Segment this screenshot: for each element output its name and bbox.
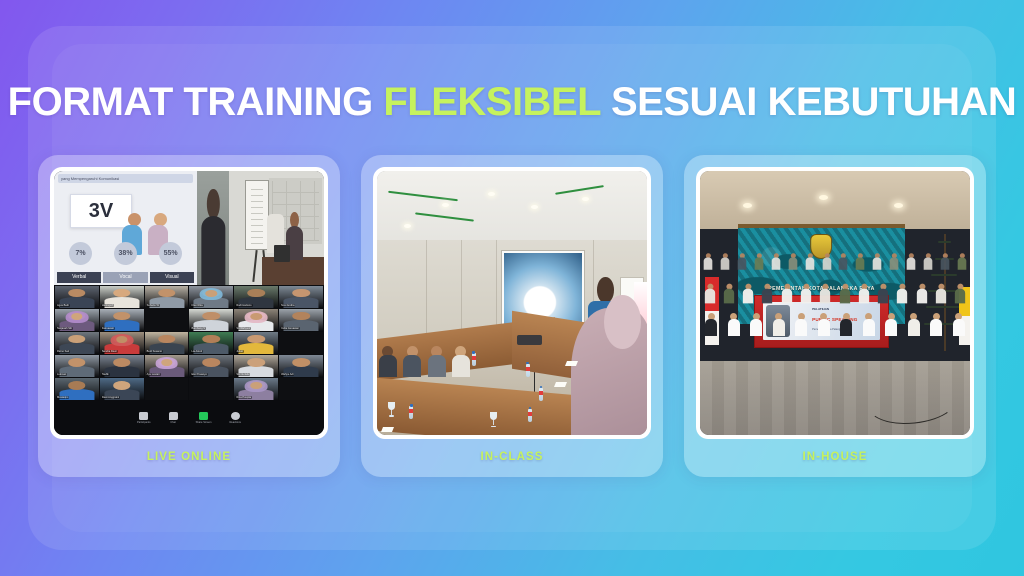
- zoom-participant-tile[interactable]: Eko Prasetyo: [189, 355, 233, 377]
- format-card-in-class[interactable]: IN-CLASS: [361, 155, 663, 477]
- participant-name: Budi Susanto: [146, 350, 163, 353]
- chat-icon: [169, 412, 178, 420]
- crowd-person: [805, 253, 814, 270]
- zoom-participant-tile[interactable]: Heningsih: [100, 286, 144, 308]
- card-label-in-class: IN-CLASS: [480, 451, 543, 463]
- crowd-person: [923, 253, 932, 270]
- participant-name: Taufik: [101, 373, 110, 376]
- stat-verbal: 7%: [69, 242, 92, 265]
- zoom-meeting-ui: yang Mempengaruhi Komunikasi 3V: [54, 171, 324, 435]
- crowd-person: [704, 253, 713, 270]
- bar-label-visual: Visual: [150, 272, 194, 283]
- crowd-person: [940, 253, 949, 270]
- crowd-person: [863, 313, 875, 336]
- crowd-person: [820, 283, 830, 303]
- participants-icon: [139, 412, 148, 420]
- crowd-person: [873, 253, 882, 270]
- shared-slide-stats: 7% 38% 55%: [54, 242, 197, 265]
- zoom-toolbar-share-screen[interactable]: Share Screen: [196, 412, 212, 424]
- projector-device: [517, 335, 541, 346]
- photo-frame-live-online: yang Mempengaruhi Komunikasi 3V: [50, 167, 328, 439]
- zoom-participant-tile[interactable]: Mustaqim: [55, 378, 99, 400]
- crowd-person: [908, 313, 920, 336]
- stat-vocal: 38%: [114, 242, 137, 265]
- crowd-person: [721, 253, 730, 270]
- bar-label-vocal: Vocal: [103, 272, 147, 283]
- zoom-participant-tile[interactable]: Bambang S: [189, 309, 233, 331]
- zoom-participant-tile[interactable]: Fatmawati: [100, 309, 144, 331]
- crowd-person: [936, 283, 946, 303]
- crowd-person: [772, 253, 781, 270]
- participant-name: Ayu Lestari: [146, 373, 161, 376]
- group-photo-crowd: [700, 250, 970, 371]
- shared-slide-bar-labels: Verbal Vocal Visual: [57, 272, 194, 283]
- shared-slide-header: yang Mempengaruhi Komunikasi: [58, 174, 193, 183]
- zoom-participant-tile[interactable]: Sandra Dewi: [100, 332, 144, 354]
- participant-name: Fatmawati: [101, 327, 115, 330]
- participant-name: Lukman: [56, 373, 67, 376]
- participant-name: Sandra Dewi: [101, 350, 118, 353]
- participant-name: Wahyu Adi: [280, 373, 294, 376]
- title-highlight-fleksibel: FLEKSIBEL: [383, 80, 600, 124]
- crowd-person: [743, 283, 753, 303]
- zoom-participant-tile[interactable]: Siti Nurlaila: [234, 355, 278, 377]
- zoom-participant-tile[interactable]: Novi Andira: [279, 286, 323, 308]
- zoom-participant-tile[interactable]: Rudi Hartono: [234, 286, 278, 308]
- participant-name: Agus Budi: [56, 304, 70, 307]
- crowd-person: [724, 283, 734, 303]
- crowd-person: [955, 283, 965, 303]
- crowd-person: [917, 283, 927, 303]
- crowd-row: [700, 282, 970, 305]
- share-screen-icon: [199, 412, 208, 420]
- photo-frame-in-house: PEMERINTAH KOTA PALANGKA RAYA PELATIHAN …: [696, 167, 974, 439]
- crowd-person: [822, 253, 831, 270]
- crowd-person: [953, 313, 965, 336]
- zoom-participant-tile[interactable]: Rina Puspita: [234, 378, 278, 400]
- crowd-person: [890, 253, 899, 270]
- crowd-person: [788, 253, 797, 270]
- photo-frame-in-class: [373, 167, 651, 439]
- crowd-person: [878, 283, 888, 303]
- zoom-participant-tile[interactable]: Dian Rika: [189, 286, 233, 308]
- zoom-participant-tile[interactable]: Lukman: [55, 355, 99, 377]
- zoom-participant-grid: Agus BudiHeningsihSuharto WDian RikaRudi…: [54, 285, 324, 401]
- crowd-person: [795, 313, 807, 336]
- zoom-participant-tile[interactable]: Sri Wahyuni: [234, 309, 278, 331]
- crowd-person: [897, 283, 907, 303]
- photo-live-online: yang Mempengaruhi Komunikasi 3V: [54, 171, 324, 435]
- participant-name: Dewi Anggraini: [101, 396, 120, 399]
- card-label-in-house: IN-HOUSE: [802, 451, 867, 463]
- crowd-person: [885, 313, 897, 336]
- crowd-person: [907, 253, 916, 270]
- participant-name: Heningsih: [101, 304, 115, 307]
- participant-name: Mustaqim: [56, 396, 69, 399]
- format-card-live-online[interactable]: yang Mempengaruhi Komunikasi 3V: [38, 155, 340, 477]
- crowd-person: [859, 283, 869, 303]
- card-label-live-online: LIVE ONLINE: [147, 451, 231, 463]
- reactions-icon: [231, 412, 240, 420]
- hall-ceiling: [700, 171, 970, 229]
- crowd-person: [839, 253, 848, 270]
- crowd-person: [755, 253, 764, 270]
- slide-root: FORMAT TRAINING FLEKSIBEL SESUAI KEBUTUH…: [0, 0, 1024, 576]
- zoom-toolbar-reactions[interactable]: Reactions: [229, 412, 241, 424]
- participant-name: Rudi Hartono: [235, 304, 252, 307]
- crowd-person: [782, 283, 792, 303]
- zoom-participant-tile[interactable]: Lia Astuti: [189, 332, 233, 354]
- presenter-silhouette: [197, 171, 229, 285]
- crowd-person: [705, 313, 717, 336]
- zoom-participant-tile[interactable]: Taufik: [100, 355, 144, 377]
- classroom-scene: [377, 171, 647, 435]
- zoom-participant-tile[interactable]: Suharto W: [145, 286, 189, 308]
- zoom-participant-tile[interactable]: Retno Sari: [55, 332, 99, 354]
- stat-visual: 55%: [159, 242, 182, 265]
- photo-in-house: PEMERINTAH KOTA PALANGKA RAYA PELATIHAN …: [700, 171, 970, 435]
- crowd-person: [957, 253, 966, 270]
- page-title: FORMAT TRAINING FLEKSIBEL SESUAI KEBUTUH…: [0, 80, 1024, 125]
- zoom-toolbar-participants[interactable]: Participants: [137, 412, 151, 424]
- participant-name: Siti Nurlaila: [235, 373, 250, 376]
- zoom-participant-tile[interactable]: Ayu Lestari: [145, 355, 189, 377]
- crowd-person: [762, 283, 772, 303]
- reactions-label: Reactions: [229, 421, 241, 424]
- zoom-participant-tile[interactable]: [189, 378, 233, 400]
- crowd-person: [818, 313, 830, 336]
- participant-name: Indra Gunawan: [280, 327, 300, 330]
- zoom-tile-presenter-small: [197, 171, 229, 285]
- crowd-person: [930, 313, 942, 336]
- participant-name: Nurjanah Siti: [56, 327, 73, 330]
- crowd-person: [704, 283, 714, 303]
- zoom-participant-tile[interactable]: Wahyu Adi: [279, 355, 323, 377]
- zoom-participant-tile[interactable]: [145, 378, 189, 400]
- zoom-participant-tile[interactable]: [145, 309, 189, 331]
- format-card-in-house[interactable]: PEMERINTAH KOTA PALANGKA RAYA PELATIHAN …: [684, 155, 986, 477]
- office-background: [229, 171, 324, 285]
- participant-name: Retno Sari: [56, 350, 70, 353]
- crowd-row: [700, 250, 970, 273]
- title-part-2: SESUAI KEBUTUHAN: [600, 80, 1016, 124]
- zoom-tile-presenter-large: [229, 171, 324, 285]
- crowd-person: [773, 313, 785, 336]
- title-part-1: FORMAT TRAINING: [8, 80, 384, 124]
- zoom-toolbar-chat[interactable]: Chat: [169, 412, 178, 424]
- participant-name: Dian Rika: [190, 304, 203, 307]
- crowd-row: [700, 313, 970, 336]
- crowd-person: [750, 313, 762, 336]
- zoom-participant-tile[interactable]: Juliati: [234, 332, 278, 354]
- zoom-shared-slide: yang Mempengaruhi Komunikasi 3V: [54, 171, 197, 285]
- zoom-participant-tile[interactable]: Budi Susanto: [145, 332, 189, 354]
- participant-name: Bambang S: [190, 327, 206, 330]
- photo-in-class: [377, 171, 647, 435]
- participant-name: Sri Wahyuni: [235, 327, 251, 330]
- zoom-toolbar[interactable]: Participants Chat Share Screen: [54, 401, 324, 435]
- bar-label-verbal: Verbal: [57, 272, 101, 283]
- participant-name: Eko Prasetyo: [190, 373, 207, 376]
- participant-name: Novi Andira: [280, 304, 295, 307]
- zoom-participant-tile[interactable]: [279, 332, 323, 354]
- crowd-person: [728, 313, 740, 336]
- attendee-foreground: [571, 308, 647, 435]
- participant-name: Lia Astuti: [190, 350, 203, 353]
- zoom-participant-tile[interactable]: Agus Budi: [55, 286, 99, 308]
- format-card-row: yang Mempengaruhi Komunikasi 3V: [38, 155, 986, 477]
- participants-label: Participants: [137, 421, 151, 424]
- share-screen-label: Share Screen: [196, 421, 212, 424]
- participant-name: Suharto W: [146, 304, 160, 307]
- participant-name: Juliati: [235, 350, 244, 353]
- chat-label: Chat: [170, 421, 175, 424]
- zoom-participant-tile[interactable]: [279, 378, 323, 400]
- participant-name: Rina Puspita: [235, 396, 252, 399]
- crowd-person: [856, 253, 865, 270]
- crowd-person: [738, 253, 747, 270]
- ceiling: [377, 171, 647, 250]
- zoom-participant-tile[interactable]: Dewi Anggraini: [100, 378, 144, 400]
- hall-scene: PEMERINTAH KOTA PALANGKA RAYA PELATIHAN …: [700, 171, 970, 435]
- crowd-person: [801, 283, 811, 303]
- crowd-person: [839, 283, 849, 303]
- zoom-participant-tile[interactable]: Indra Gunawan: [279, 309, 323, 331]
- crowd-person: [840, 313, 852, 336]
- zoom-top-row: yang Mempengaruhi Komunikasi 3V: [54, 171, 324, 285]
- zoom-participant-tile[interactable]: Nurjanah Siti: [55, 309, 99, 331]
